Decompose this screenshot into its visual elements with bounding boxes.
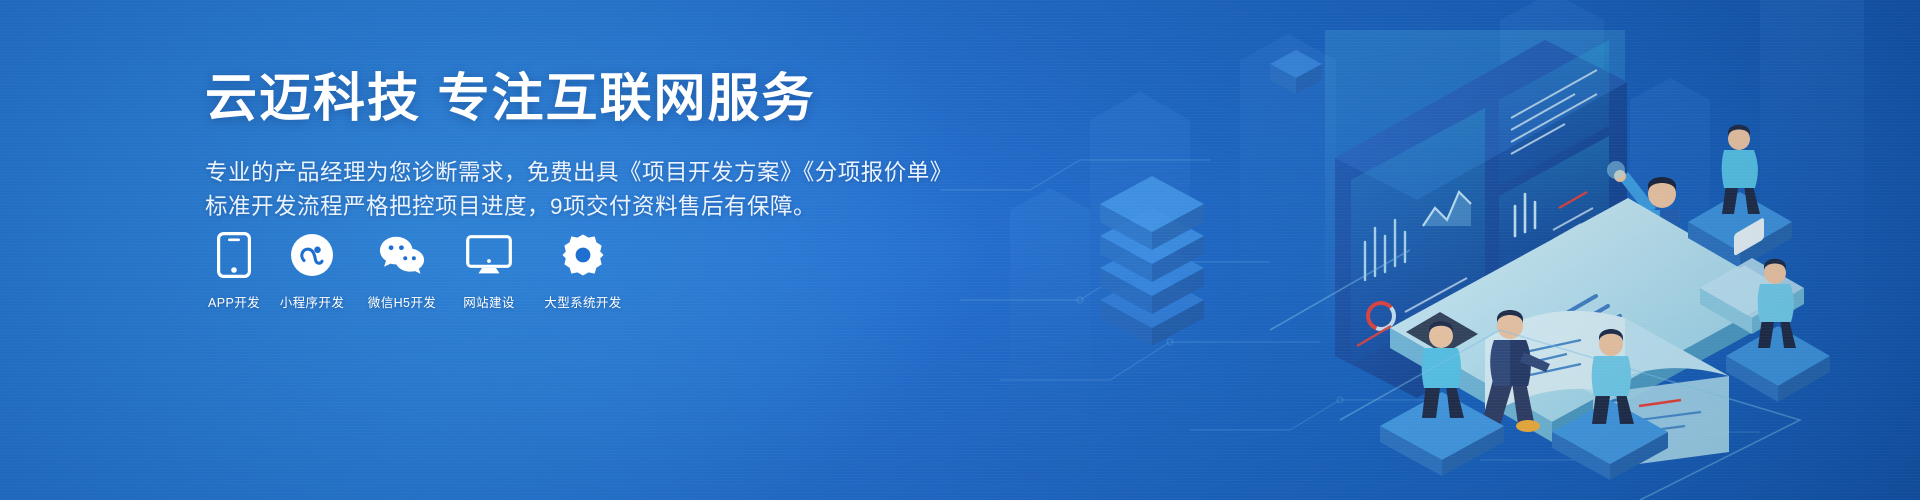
service-list: APP开发 小程序开发 (205, 232, 641, 311)
hero-copy: 云迈科技 专注互联网服务 专业的产品经理为您诊断需求，免费出具《项目开发方案》《… (205, 70, 1105, 224)
service-label: 小程序开发 (280, 292, 345, 311)
subtitle-line-2: 标准开发流程严格把控项目进度，9项交付资料售后有保障。 (205, 190, 1105, 224)
service-label: 网站建设 (463, 292, 515, 311)
subtitle-line-1: 专业的产品经理为您诊断需求，免费出具《项目开发方案》《分项报价单》 (205, 156, 1105, 190)
service-item-app[interactable]: APP开发 (205, 232, 263, 311)
service-item-large-system[interactable]: 大型系统开发 (535, 232, 631, 311)
wechat-icon (379, 232, 425, 278)
service-label: APP开发 (208, 292, 260, 311)
service-label: 大型系统开发 (544, 292, 621, 311)
mini-program-icon (289, 232, 335, 278)
service-label: 微信H5开发 (368, 292, 436, 311)
gear-icon (560, 232, 606, 278)
mobile-phone-icon (211, 232, 257, 278)
service-item-mini-program[interactable]: 小程序开发 (273, 232, 351, 311)
service-item-wechat-h5[interactable]: 微信H5开发 (361, 232, 443, 311)
hero-banner: 云迈科技 专注互联网服务 专业的产品经理为您诊断需求，免费出具《项目开发方案》《… (0, 0, 1920, 500)
monitor-icon (466, 232, 512, 278)
service-item-website[interactable]: 网站建设 (453, 232, 525, 311)
page-title: 云迈科技 专注互联网服务 (205, 70, 1105, 130)
